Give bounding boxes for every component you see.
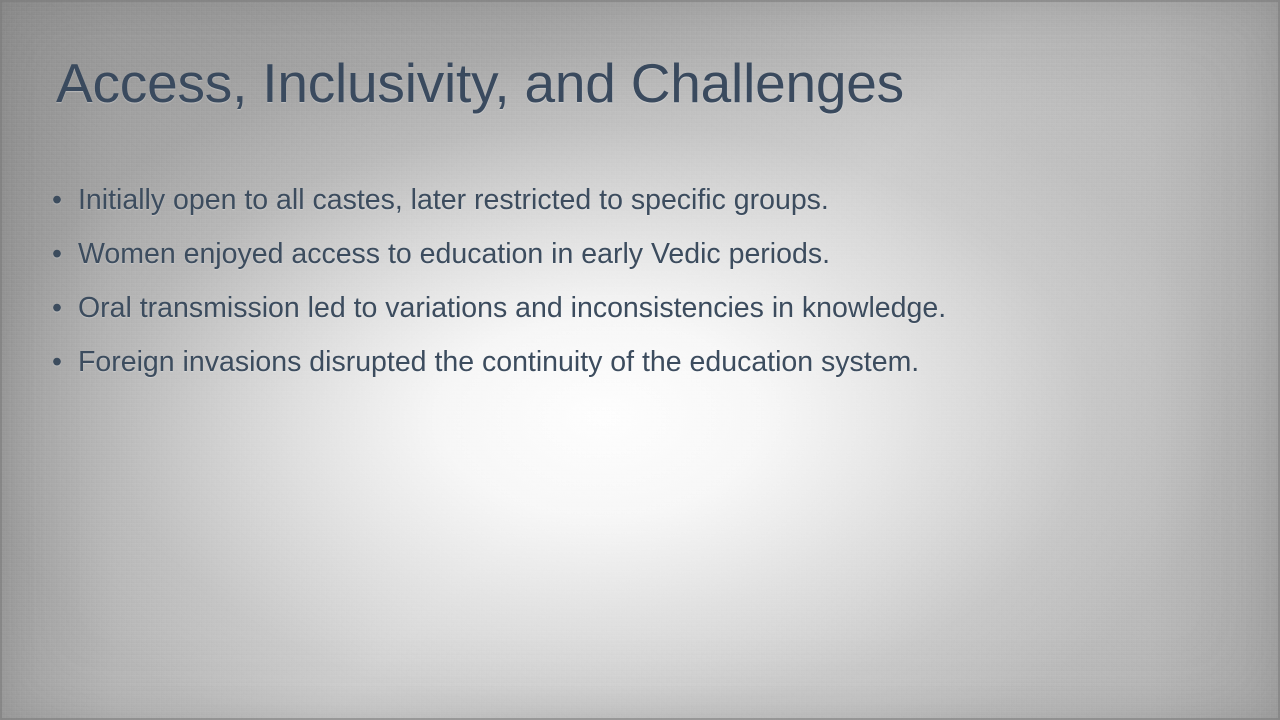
slide-content-area: Access, Inclusivity, and Challenges • In… <box>0 0 1280 720</box>
bullet-point-icon: • <box>52 348 78 377</box>
bullet-point-icon: • <box>52 186 78 215</box>
bullet-point-icon: • <box>52 294 78 323</box>
list-item-label: Foreign invasions disrupted the continui… <box>78 348 1232 377</box>
list-item-label: Women enjoyed access to education in ear… <box>78 240 1232 269</box>
list-item: • Foreign invasions disrupted the contin… <box>52 348 1232 402</box>
page-title: Access, Inclusivity, and Challenges <box>56 54 904 113</box>
list-item: • Initially open to all castes, later re… <box>52 186 1232 240</box>
bullet-list: • Initially open to all castes, later re… <box>52 186 1232 402</box>
list-item-label: Initially open to all castes, later rest… <box>78 186 1232 215</box>
bullet-point-icon: • <box>52 240 78 269</box>
list-item: • Women enjoyed access to education in e… <box>52 240 1232 294</box>
presentation-slide: Access, Inclusivity, and Challenges • In… <box>0 0 1280 720</box>
list-item: • Oral transmission led to variations an… <box>52 294 1232 348</box>
list-item-label: Oral transmission led to variations and … <box>78 294 1232 323</box>
